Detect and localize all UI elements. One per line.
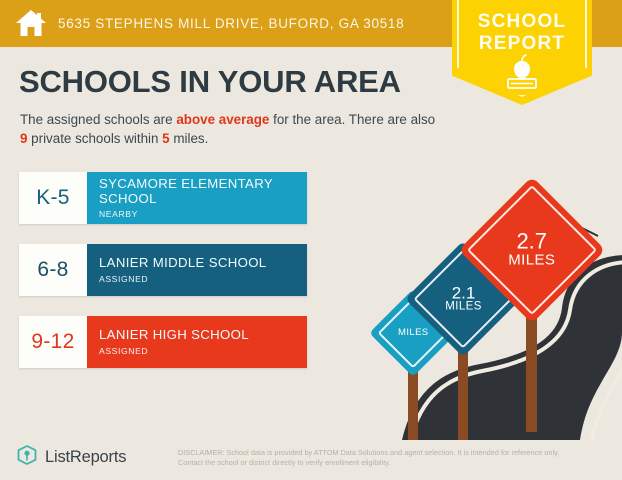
school-name: SYCAMORE ELEMENTARY SCHOOL [99, 177, 307, 206]
school-name: LANIER HIGH SCHOOL [99, 328, 307, 343]
listreports-logo[interactable]: ListReports [16, 444, 126, 471]
sign-unit: MILES [508, 254, 555, 269]
page-title: SCHOOLS IN YOUR AREA [19, 64, 401, 100]
school-info: LANIER MIDDLE SCHOOL ASSIGNED [87, 244, 307, 296]
sign-unit: MILES [445, 302, 482, 314]
page-subtitle: The assigned schools are above average f… [20, 110, 440, 148]
sign-post [526, 302, 537, 432]
school-report-infographic: 5635 STEPHENS MILL DRIVE, BUFORD, GA 305… [0, 0, 622, 480]
subtitle-part-2: for the area. There are also [269, 112, 435, 127]
school-info: SYCAMORE ELEMENTARY SCHOOL NEARBY [87, 172, 307, 224]
school-name: LANIER MIDDLE SCHOOL [99, 256, 307, 271]
apple-on-book-icon [499, 50, 545, 95]
grade-range: K-5 [19, 172, 87, 224]
grade-range: 9-12 [19, 316, 87, 368]
sign-value: 2.1 [445, 284, 482, 301]
listreports-house-pin-icon [16, 444, 38, 471]
home-icon [14, 6, 48, 40]
school-info: LANIER HIGH SCHOOL ASSIGNED [87, 316, 307, 368]
sign-unit: MILES [398, 328, 429, 338]
badge-line-1: SCHOOL [452, 12, 592, 32]
school-row[interactable]: 6-8 LANIER MIDDLE SCHOOL ASSIGNED [19, 244, 307, 296]
brand-name: ListReports [45, 448, 126, 467]
sign-label: 2.1 MILES [445, 284, 482, 313]
road-illustration: MILES 2.1 MILES 2.7 MILES [330, 150, 622, 440]
school-status: NEARBY [99, 209, 307, 219]
subtitle-part-1: The assigned schools are [20, 112, 176, 127]
disclaimer-text: DISCLAIMER: School data is provided by A… [178, 448, 570, 467]
subtitle-part-3: private schools within [27, 131, 162, 146]
school-status: ASSIGNED [99, 346, 307, 356]
school-row[interactable]: 9-12 LANIER HIGH SCHOOL ASSIGNED [19, 316, 307, 368]
sign-label: 2.7 MILES [508, 231, 555, 269]
sign-label: MILES [398, 328, 429, 338]
subtitle-part-4: miles. [170, 131, 209, 146]
school-report-badge: SCHOOL REPORT [452, 0, 592, 105]
sign-value: 2.7 [508, 231, 555, 253]
school-status: ASSIGNED [99, 274, 307, 284]
grade-range: 6-8 [19, 244, 87, 296]
school-row[interactable]: K-5 SYCAMORE ELEMENTARY SCHOOL NEARBY [19, 172, 307, 224]
property-address: 5635 STEPHENS MILL DRIVE, BUFORD, GA 305… [58, 16, 404, 31]
subtitle-highlight-radius: 5 [162, 131, 169, 146]
subtitle-highlight-above-average: above average [176, 112, 269, 127]
